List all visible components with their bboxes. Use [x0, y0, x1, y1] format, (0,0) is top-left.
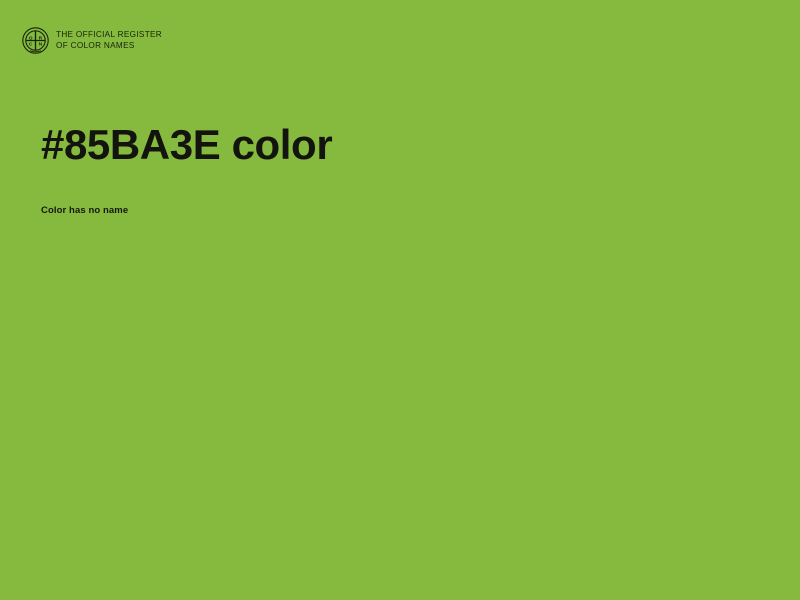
page-title: #85BA3E color	[41, 118, 741, 172]
color-page: O R C N THE OFFICIAL REGISTER OF COLOR N…	[0, 0, 800, 600]
svg-text:N: N	[39, 42, 43, 48]
register-seal-icon: O R C N	[22, 27, 49, 54]
brand-line-1: THE OFFICIAL REGISTER	[56, 30, 162, 41]
color-name-status: Color has no name	[41, 172, 741, 218]
svg-text:O: O	[29, 36, 33, 42]
svg-text:C: C	[29, 42, 33, 48]
brand-lockup[interactable]: O R C N THE OFFICIAL REGISTER OF COLOR N…	[22, 27, 162, 54]
brand-line-2: OF COLOR NAMES	[56, 41, 162, 52]
color-info-block: #85BA3E color Color has no name	[41, 118, 741, 218]
brand-wordmark: THE OFFICIAL REGISTER OF COLOR NAMES	[56, 30, 162, 51]
svg-text:R: R	[39, 36, 43, 42]
